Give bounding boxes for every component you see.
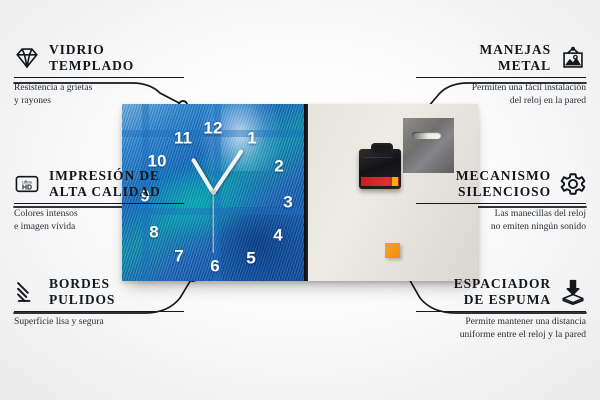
feature-description: Colores intensos e imagen vívida — [14, 208, 184, 234]
feature-title-line1: MECANISMO — [416, 168, 551, 184]
feature-bordes-pulidos: BORDES PULIDOS Superficie lisa y segura — [14, 276, 184, 329]
polished-edges-icon — [14, 279, 40, 305]
feature-desc-line2: uniforme entre el reloj y la pared — [416, 329, 586, 342]
feature-title-line2: TEMPLADO — [49, 58, 134, 74]
clock-mechanism — [359, 149, 401, 189]
hanger-slot — [412, 132, 441, 139]
feature-title-line2: METAL — [416, 58, 551, 74]
feature-vidrio-templado: VIDRIO TEMPLADO Resistencia a grietas y … — [14, 42, 184, 108]
clock-numeral-1: 1 — [247, 130, 256, 147]
metal-hanger-plate — [403, 118, 454, 173]
feature-title-line1: BORDES — [49, 276, 115, 292]
clock-second-hand — [212, 193, 213, 253]
feature-rule — [14, 203, 184, 205]
feature-title-line2: PULIDOS — [49, 292, 115, 308]
feature-impresion-alta-calidad: ultra HD IMPRESIÓN DE ALTA CALIDAD Color… — [14, 168, 184, 234]
clock-numeral-5: 5 — [246, 250, 255, 267]
feature-title-line1: IMPRESIÓN DE — [49, 168, 161, 184]
feature-description: Resistencia a grietas y rayones — [14, 82, 184, 108]
clock-numeral-4: 4 — [273, 227, 282, 244]
clock-numeral-7: 7 — [174, 248, 183, 265]
mechanism-yellow-marker — [392, 177, 398, 186]
svg-text:HD: HD — [22, 185, 32, 192]
feature-desc-line1: Resistencia a grietas — [14, 82, 184, 95]
ultra-hd-icon: ultra HD — [14, 171, 40, 197]
feature-desc-line1: Permiten una fácil instalación — [416, 82, 586, 95]
feature-title-line2: SILENCIOSO — [416, 184, 551, 200]
feature-title-line1: ESPACIADOR — [416, 276, 551, 292]
feature-description: Permiten una fácil instalación del reloj… — [416, 82, 586, 108]
clock-pattern-dark — [217, 207, 304, 281]
feature-rule — [416, 77, 586, 79]
feature-description: Las manecillas del reloj no emiten ningú… — [416, 208, 586, 234]
clock-numeral-10: 10 — [148, 153, 167, 170]
feature-manejas-metal: MANEJAS METAL Permiten una fácil instala… — [416, 42, 586, 108]
feature-rule — [416, 203, 586, 205]
feature-description: Permite mantener una distancia uniforme … — [416, 316, 586, 342]
gear-icon — [560, 171, 586, 197]
feature-mecanismo-silencioso: MECANISMO SILENCIOSO Las manecillas del … — [416, 168, 586, 234]
mechanism-seam — [363, 157, 393, 158]
feature-rule — [416, 311, 586, 313]
feature-desc-line2: no emiten ningún sonido — [416, 221, 586, 234]
picture-frame-icon — [560, 45, 586, 71]
mechanism-hanging-tab — [371, 143, 393, 153]
clock-pattern-glow — [198, 104, 282, 171]
feature-rule — [14, 77, 184, 79]
feature-title-line2: ALTA CALIDAD — [49, 184, 161, 200]
feature-desc-line1: Permite mantener una distancia — [416, 316, 586, 329]
feature-desc-line1: Las manecillas del reloj — [416, 208, 586, 221]
feature-title-line1: MANEJAS — [416, 42, 551, 58]
clock-numeral-2: 2 — [274, 158, 283, 175]
feature-title-line2: DE ESPUMA — [416, 292, 551, 308]
feature-description: Superficie lisa y segura — [14, 316, 184, 329]
feature-rule — [14, 311, 184, 313]
feature-desc-line2: y rayones — [14, 95, 184, 108]
feature-desc-line1: Superficie lisa y segura — [14, 316, 184, 329]
clock-numeral-6: 6 — [210, 258, 219, 275]
infographic-canvas: 12 1 2 3 4 5 6 7 8 9 10 11 — [0, 0, 600, 400]
foam-spacer-icon — [560, 279, 586, 305]
feature-title-line1: VIDRIO — [49, 42, 134, 58]
clock-numeral-12: 12 — [204, 120, 223, 137]
diamond-icon — [14, 45, 40, 71]
feature-espaciador-espuma: ESPACIADOR DE ESPUMA Permite mantener un… — [416, 276, 586, 342]
clock-numeral-3: 3 — [283, 194, 292, 211]
feature-desc-line1: Colores intensos — [14, 208, 184, 221]
clock-numeral-11: 11 — [174, 130, 192, 147]
foam-spacer-pad — [385, 243, 400, 258]
feature-desc-line2: del reloj en la pared — [416, 95, 586, 108]
feature-desc-line2: e imagen vívida — [14, 221, 184, 234]
clock-center-pin — [211, 190, 216, 195]
